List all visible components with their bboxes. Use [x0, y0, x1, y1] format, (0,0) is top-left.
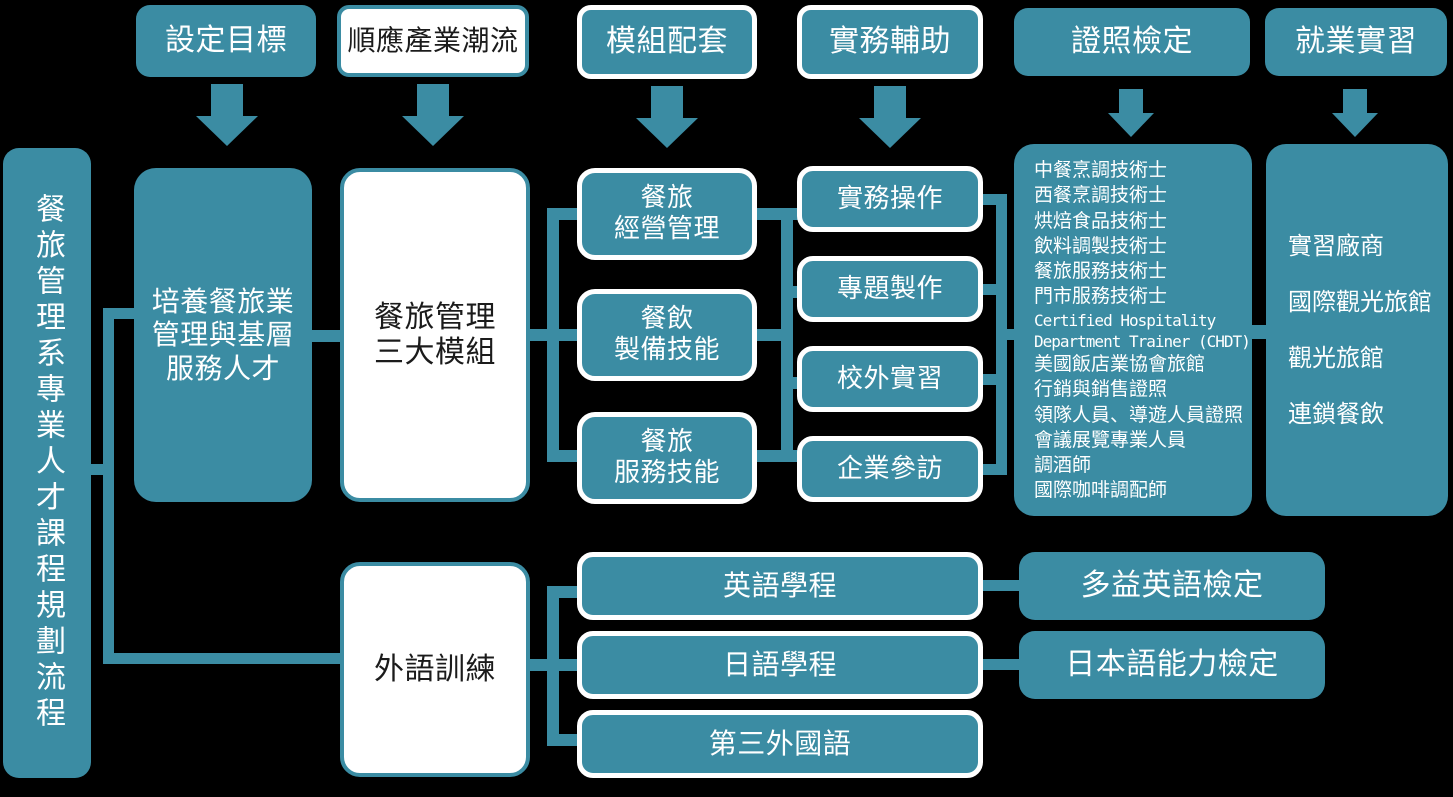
certification-item: 飲料調製技術士 — [1034, 234, 1240, 259]
module-hub-box[interactable]: 餐旅管理 三大模組 — [340, 168, 530, 502]
internship-item: 國際觀光旅館 — [1288, 290, 1448, 314]
goal-box-line3: 服務人才 — [166, 352, 280, 385]
connector-title-to-language — [103, 653, 343, 664]
module-hub-line2: 三大模組 — [374, 335, 496, 370]
module-box-line2: 經營管理 — [614, 214, 720, 245]
certification-item: 中餐烹調技術士 — [1034, 158, 1240, 183]
language-hub-box[interactable]: 外語訓練 — [340, 562, 530, 777]
module-box-line1: 餐旅 — [640, 427, 693, 458]
language-course-label: 英語學程 — [723, 569, 837, 602]
language-exam-label: 多益英語檢定 — [1081, 568, 1264, 603]
module-box-line2: 製備技能 — [614, 335, 720, 366]
certification-item: 領隊人員、導遊人員證照 — [1034, 403, 1240, 428]
internship-item: 連鎖餐飲 — [1288, 402, 1448, 426]
module-box-food-preparation[interactable]: 餐飲 製備技能 — [577, 289, 757, 381]
header-box-label: 證照檢定 — [1071, 24, 1193, 59]
header-box-certification-exam[interactable]: 證照檢定 — [1014, 8, 1250, 76]
practice-box-hands-on[interactable]: 實務操作 — [797, 166, 983, 232]
connector-practice-bus — [781, 208, 793, 462]
certification-item: 會議展覽專業人員 — [1034, 428, 1240, 453]
practice-box-project[interactable]: 專題製作 — [797, 256, 983, 322]
down-arrow-icon — [1108, 89, 1154, 139]
module-box-line1: 餐旅 — [640, 183, 693, 214]
header-box-label: 順應產業潮流 — [347, 24, 518, 57]
connector-english-to-toeic — [981, 580, 1021, 591]
module-box-line2: 服務技能 — [614, 458, 720, 489]
language-course-label: 第三外國語 — [709, 727, 852, 760]
module-box-line1: 餐飲 — [640, 304, 693, 335]
certification-item: Certified Hospitality — [1034, 310, 1240, 331]
flowchart-canvas: 餐旅管理系專業人才課程規劃流程 設定目標 順應產業潮流 模組配套 實務輔助 證照… — [0, 0, 1453, 797]
internship-item: 觀光旅館 — [1288, 346, 1448, 370]
certification-item: 餐旅服務技術士 — [1034, 259, 1240, 284]
language-exam-toeic[interactable]: 多益英語檢定 — [1019, 552, 1325, 620]
language-course-label: 日語學程 — [723, 648, 837, 681]
practice-box-label: 企業參訪 — [837, 454, 943, 485]
header-box-employment-internship[interactable]: 就業實習 — [1265, 8, 1447, 76]
certification-item: 行銷與銷售證照 — [1034, 377, 1240, 402]
language-exam-label: 日本語能力檢定 — [1065, 647, 1279, 682]
down-arrow-icon — [636, 86, 698, 148]
vertical-title-bar: 餐旅管理系專業人才課程規劃流程 — [3, 148, 91, 778]
header-box-label: 設定目標 — [165, 23, 287, 58]
language-course-japanese[interactable]: 日語學程 — [577, 631, 983, 699]
header-box-label: 實務輔助 — [829, 24, 951, 59]
header-box-industry-trend[interactable]: 順應產業潮流 — [337, 5, 529, 77]
certification-item: 門市服務技術士 — [1034, 284, 1240, 309]
practice-box-label: 實務操作 — [837, 184, 943, 215]
language-exam-jlpt[interactable]: 日本語能力檢定 — [1019, 631, 1325, 699]
goal-box-talent-cultivation[interactable]: 培養餐旅業 管理與基層 服務人才 — [134, 168, 312, 502]
practice-box-company-visit[interactable]: 企業參訪 — [797, 436, 983, 502]
module-box-hospitality-service[interactable]: 餐旅 服務技能 — [577, 412, 757, 504]
language-course-third-language[interactable]: 第三外國語 — [577, 710, 983, 778]
certification-item: 烘焙食品技術士 — [1034, 209, 1240, 234]
certification-list-box[interactable]: 中餐烹調技術士 西餐烹調技術士 烘焙食品技術士 飲料調製技術士 餐旅服務技術士 … — [1014, 144, 1252, 516]
goal-box-line1: 培養餐旅業 — [152, 285, 295, 318]
header-box-set-goal[interactable]: 設定目標 — [136, 5, 316, 77]
internship-list-box[interactable]: 實習廠商 國際觀光旅館 觀光旅館 連鎖餐飲 — [1266, 144, 1448, 516]
practice-box-label: 專題製作 — [837, 274, 943, 305]
down-arrow-icon — [402, 84, 464, 146]
practice-box-label: 校外實習 — [837, 364, 943, 395]
header-box-practical-support[interactable]: 實務輔助 — [797, 5, 983, 79]
internship-item: 實習廠商 — [1288, 234, 1448, 258]
down-arrow-icon — [196, 84, 258, 146]
module-hub-line1: 餐旅管理 — [374, 300, 496, 335]
down-arrow-icon — [859, 86, 921, 148]
certification-item: 國際咖啡調配師 — [1034, 478, 1240, 503]
language-hub-label: 外語訓練 — [374, 652, 496, 687]
header-box-label: 模組配套 — [606, 24, 728, 59]
header-box-label: 就業實習 — [1295, 24, 1417, 59]
goal-box-line2: 管理與基層 — [152, 318, 295, 351]
certification-item: 美國飯店業協會旅館 — [1034, 352, 1240, 377]
certification-item: 西餐烹調技術士 — [1034, 183, 1240, 208]
down-arrow-icon — [1332, 89, 1378, 139]
practice-box-offcampus-internship[interactable]: 校外實習 — [797, 346, 983, 412]
certification-item: 調酒師 — [1034, 453, 1240, 478]
certification-item: Department Trainer (CHDT) — [1034, 331, 1240, 352]
connector-title-bus — [103, 308, 114, 664]
header-box-module-package[interactable]: 模組配套 — [577, 5, 757, 79]
language-course-english[interactable]: 英語學程 — [577, 552, 983, 620]
connector-japanese-to-jlpt — [981, 659, 1021, 670]
module-box-hospitality-management[interactable]: 餐旅 經營管理 — [577, 168, 757, 260]
